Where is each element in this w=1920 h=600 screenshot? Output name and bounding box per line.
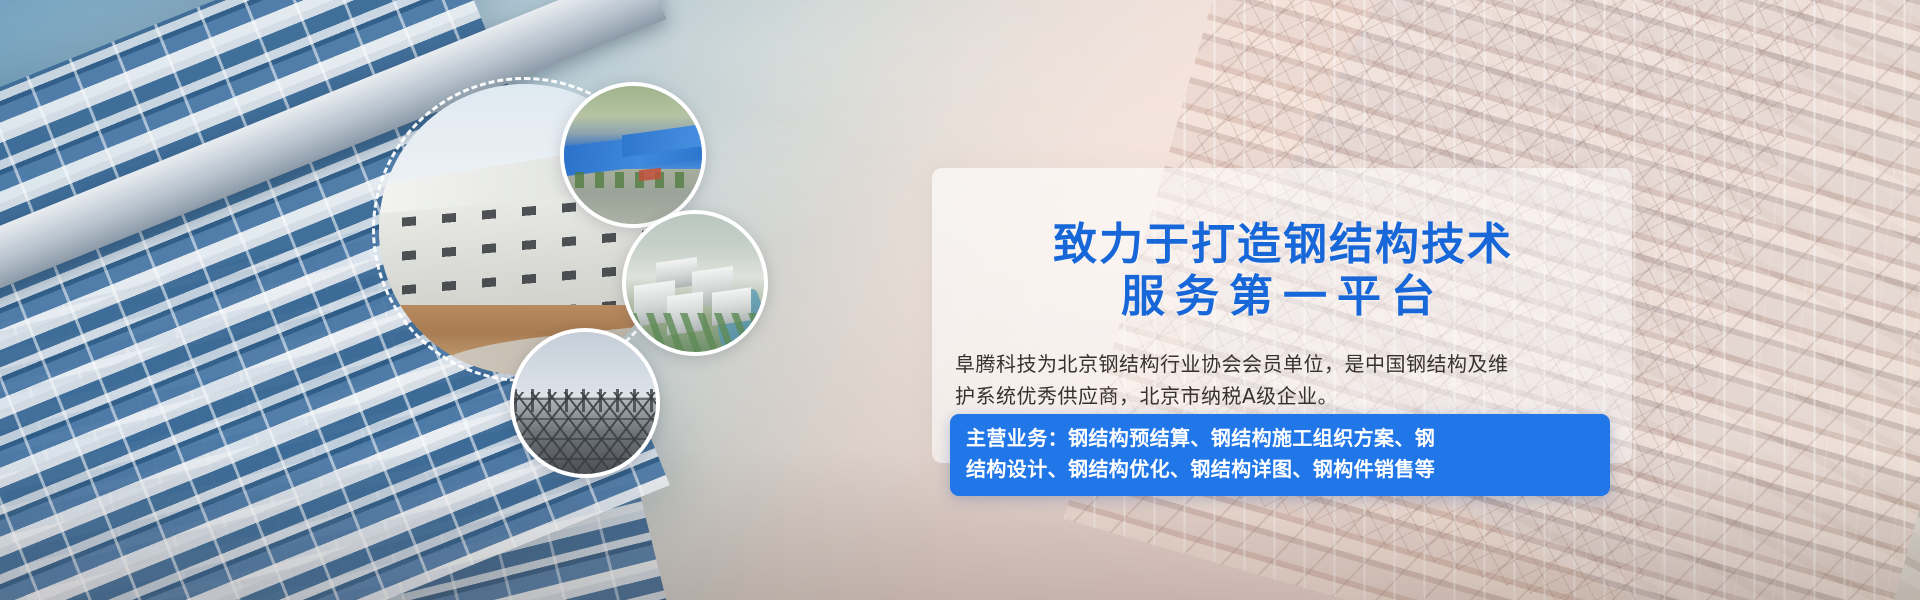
thumb-photo-circle-1 xyxy=(560,82,706,228)
description-line-1: 阜腾科技为北京钢结构行业协会会员单位，是中国钢结构及维 xyxy=(955,352,1509,376)
thumb1-greenery-shape xyxy=(575,172,691,189)
description-line-2: 护系统优秀供应商，北京市纳税A级企业。 xyxy=(955,384,1338,408)
thumb3-steel-truss-shape xyxy=(510,392,660,478)
business-scope-line-2: 结构设计、钢结构优化、钢结构详图、钢构件销售等 xyxy=(966,457,1435,481)
thumb1-court-shape xyxy=(639,168,661,181)
hero-banner: 致力于打造钢结构技术 服务第一平台 阜腾科技为北京钢结构行业协会会员单位，是中国… xyxy=(0,0,1920,600)
thumb3-sky-shape xyxy=(514,332,656,397)
photo-collage xyxy=(360,55,780,485)
business-scope-line-1: 主营业务：钢结构预结算、钢结构施工组织方案、钢 xyxy=(966,426,1435,450)
headline-line-2: 服务第一平台 xyxy=(948,271,1618,323)
headline-line-1: 致力于打造钢结构技术 xyxy=(1053,219,1513,270)
banner-description: 阜腾科技为北京钢结构行业协会会员单位，是中国钢结构及维 护系统优秀供应商，北京市… xyxy=(955,348,1605,412)
thumb-photo-circle-3 xyxy=(510,328,660,478)
banner-headline: 致力于打造钢结构技术 服务第一平台 xyxy=(948,219,1618,323)
business-scope-box: 主营业务：钢结构预结算、钢结构施工组织方案、钢 结构设计、钢结构优化、钢结构详图… xyxy=(950,414,1610,496)
